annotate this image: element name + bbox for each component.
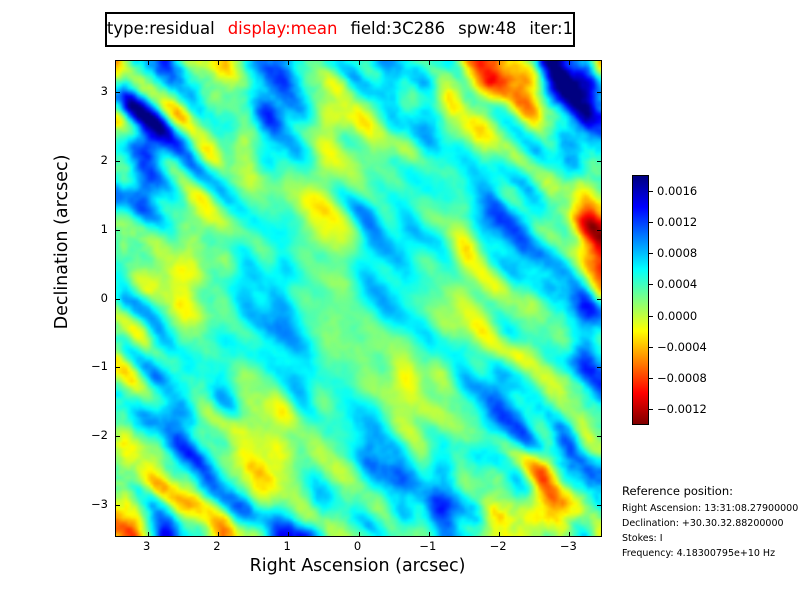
x-tick-label-5: −2: [490, 539, 507, 553]
colorbar-tick-1: [649, 222, 653, 223]
y-tick-mark-6: [597, 505, 601, 506]
y-tick-label-1: 2: [88, 153, 108, 167]
x-tick-label-4: −1: [419, 539, 436, 553]
y-tick-label-4: −1: [88, 359, 108, 373]
x-tick-mark-4: [429, 61, 430, 65]
y-tick-mark-2: [116, 230, 120, 231]
y-tick-label-6: −3: [88, 497, 108, 511]
x-tick-label-6: −3: [560, 539, 577, 553]
y-tick-mark-0: [116, 92, 120, 93]
x-tick-label-1: 2: [213, 539, 220, 553]
colorbar-gradient: [632, 175, 649, 425]
y-tick-mark-0: [597, 92, 601, 93]
reference-line-0: Right Ascension: 13:31:08.27900000: [622, 503, 800, 514]
y-tick-label-0: 3: [88, 84, 108, 98]
colorbar-tick-label-3: 0.0004: [657, 277, 697, 291]
x-tick-mark-5: [499, 532, 500, 536]
y-tick-mark-1: [116, 161, 120, 162]
x-tick-mark-1: [218, 532, 219, 536]
colorbar-tick-3: [649, 284, 653, 285]
colorbar-tick-label-6: −0.0008: [657, 371, 707, 385]
x-tick-label-3: 0: [354, 539, 361, 553]
y-tick-mark-3: [116, 299, 120, 300]
x-tick-mark-5: [499, 61, 500, 65]
colorbar: 0.00160.00120.00080.00040.0000−0.0004−0.…: [632, 175, 649, 425]
x-tick-mark-3: [359, 532, 360, 536]
x-tick-label-0: 3: [143, 539, 150, 553]
colorbar-tick-5: [649, 347, 653, 348]
x-tick-mark-1: [218, 61, 219, 65]
y-tick-mark-1: [597, 161, 601, 162]
plot-title-box: type:residualdisplay:meanfield:3C286spw:…: [105, 12, 575, 47]
x-tick-mark-3: [359, 61, 360, 65]
colorbar-tick-4: [649, 316, 653, 317]
x-axis-label: Right Ascension (arcsec): [115, 556, 600, 576]
colorbar-tick-label-0: 0.0016: [657, 184, 697, 198]
y-tick-label-5: −2: [88, 428, 108, 442]
title-segment-2: field:3C286: [350, 21, 445, 38]
y-tick-mark-4: [116, 367, 120, 368]
colorbar-tick-7: [649, 409, 653, 410]
y-tick-mark-2: [597, 230, 601, 231]
x-tick-mark-2: [288, 532, 289, 536]
colorbar-tick-2: [649, 253, 653, 254]
colorbar-tick-label-4: 0.0000: [657, 309, 697, 323]
y-tick-mark-3: [597, 299, 601, 300]
reference-line-3: Frequency: 4.18300795e+10 Hz: [622, 548, 800, 559]
x-tick-mark-6: [569, 532, 570, 536]
x-tick-mark-4: [429, 532, 430, 536]
y-tick-mark-5: [597, 436, 601, 437]
colorbar-tick-label-2: 0.0008: [657, 246, 697, 260]
residual-image-canvas: [116, 61, 601, 536]
y-tick-mark-5: [116, 436, 120, 437]
reference-position-block: Reference position: Right Ascension: 13:…: [622, 484, 800, 563]
x-tick-mark-2: [288, 61, 289, 65]
y-axis-label: Declination (arcsec): [52, 117, 72, 367]
reference-line-1: Declination: +30.30.32.88200000: [622, 518, 800, 529]
title-segment-0: type:residual: [107, 21, 215, 38]
x-tick-mark-0: [148, 532, 149, 536]
y-tick-mark-4: [597, 367, 601, 368]
x-tick-mark-0: [148, 61, 149, 65]
colorbar-tick-label-5: −0.0004: [657, 340, 707, 354]
title-segment-4: iter:1: [529, 21, 573, 38]
colorbar-tick-label-1: 0.0012: [657, 215, 697, 229]
residual-image-plot: [115, 60, 602, 537]
title-segment-3: spw:48: [458, 21, 516, 38]
reference-line-2: Stokes: I: [622, 533, 800, 544]
title-segment-1: display:mean: [228, 21, 338, 38]
colorbar-tick-6: [649, 378, 653, 379]
y-tick-label-2: 1: [88, 222, 108, 236]
colorbar-tick-0: [649, 191, 653, 192]
y-tick-mark-6: [116, 505, 120, 506]
reference-position-heading: Reference position:: [622, 484, 800, 498]
y-tick-label-3: 0: [88, 291, 108, 305]
x-tick-mark-6: [569, 61, 570, 65]
colorbar-tick-label-7: −0.0012: [657, 402, 707, 416]
x-tick-label-2: 1: [284, 539, 291, 553]
